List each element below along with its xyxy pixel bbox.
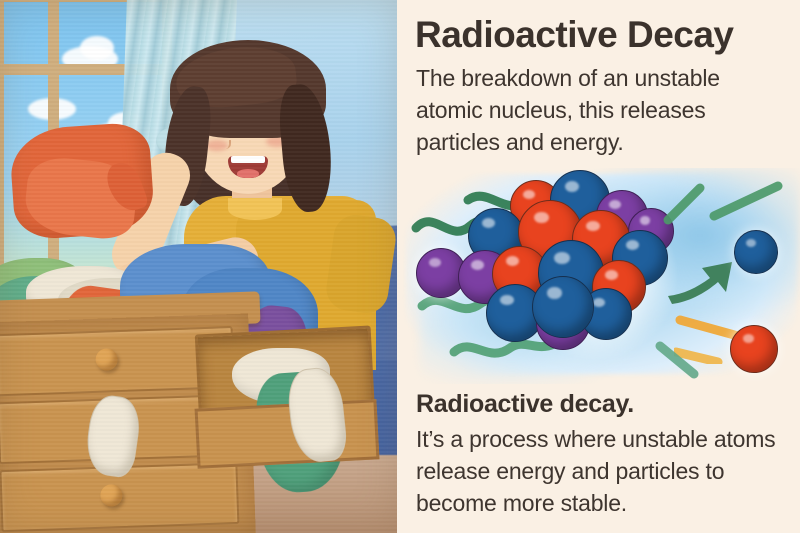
footer-line: release energy and particles to xyxy=(416,455,794,487)
illustration-panel xyxy=(0,0,397,533)
footer-heading: Radioactive decay. xyxy=(416,389,796,419)
definition-text: The breakdown of an unstable atomic nucl… xyxy=(416,62,761,158)
footer-text: It’s a process where unstable atoms rele… xyxy=(416,423,794,519)
emitted-blue-particle xyxy=(734,230,778,274)
girl-sleeve xyxy=(324,212,397,316)
open-drawer-front[interactable] xyxy=(195,399,380,468)
nucleus-diagram xyxy=(400,168,800,384)
nucleus-neutron xyxy=(532,276,594,338)
cloud-icon xyxy=(80,36,114,60)
definition-line: atomic nucleus, this releases xyxy=(416,94,761,126)
footer-line: It’s a process where unstable atoms xyxy=(416,423,794,455)
footer-line: become more stable. xyxy=(416,487,794,519)
page-title: Radioactive Decay xyxy=(415,14,795,56)
definition-line: The breakdown of an unstable xyxy=(416,62,761,94)
definition-line: particles and energy. xyxy=(416,126,761,158)
girl-collar xyxy=(228,198,282,220)
flashcard-page: Radioactive Decay The breakdown of an un… xyxy=(0,0,800,533)
emitted-red-particle xyxy=(730,325,778,373)
